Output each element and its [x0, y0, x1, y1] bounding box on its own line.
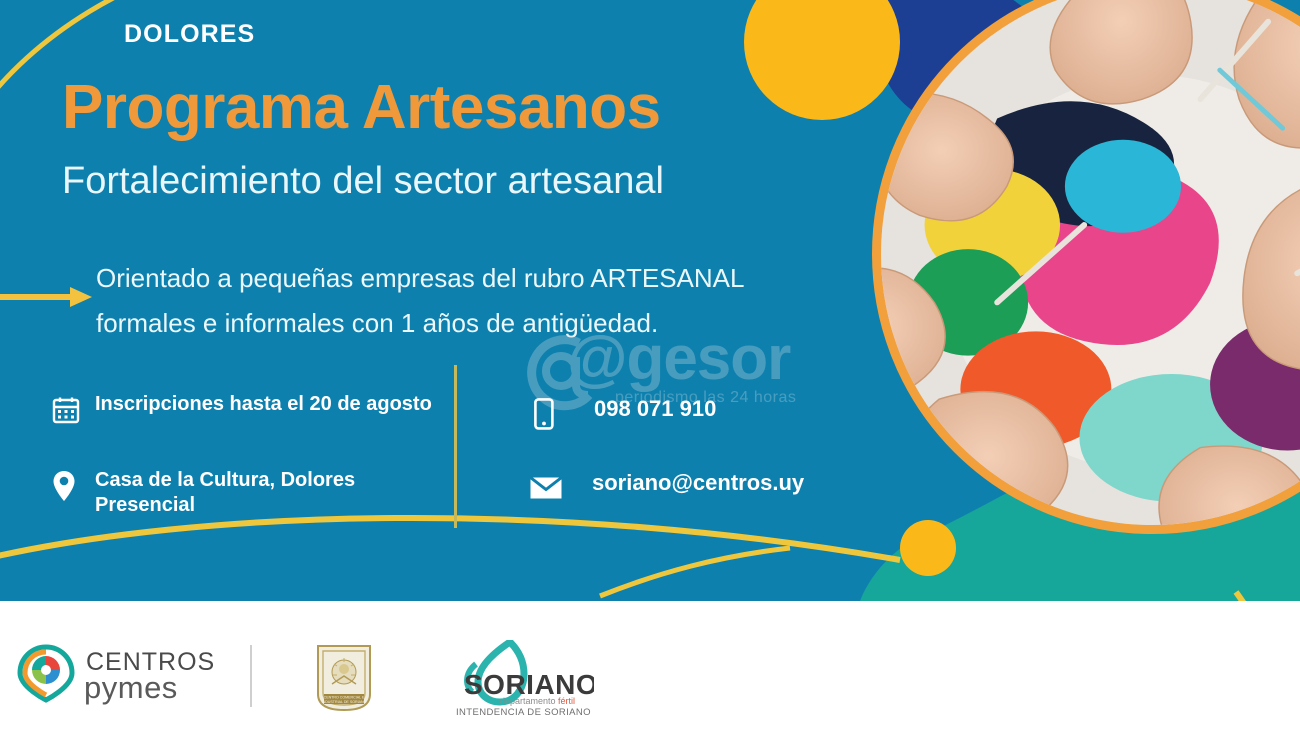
contact-column-divider — [454, 365, 457, 528]
crochet-photo-illustration — [881, 0, 1300, 525]
contact-location-line-1: Casa de la Cultura, Dolores — [95, 469, 355, 491]
contact-item-location: Casa de la Cultura, Dolores Presencial — [52, 468, 355, 518]
seal-line-2: INDUSTRIAL DE SORIANO — [322, 700, 367, 704]
contact-email-text[interactable]: soriano@centros.uy — [564, 470, 804, 495]
contact-item-phone: 098 071 910 — [534, 396, 716, 432]
location-pin-icon — [52, 468, 86, 504]
centros-pymes-pin-icon — [18, 645, 74, 703]
centros-pymes-logo: CENTROS pymes — [14, 643, 214, 705]
crochet-hands-photo — [872, 0, 1300, 534]
contact-phone-text[interactable]: 098 071 910 — [568, 396, 716, 421]
logo-divider — [250, 645, 252, 707]
soriano-intendencia-logo: SORIANO departamento fértil INTENDENCIA … — [452, 640, 594, 718]
contact-item-email: soriano@centros.uy — [530, 470, 804, 506]
poster-panel: DOLORES Programa Artesanos Fortalecimien… — [0, 0, 1300, 601]
mobile-phone-icon — [534, 396, 568, 432]
calendar-icon — [52, 392, 86, 428]
contact-item-date: Inscripciones hasta el 20 de agosto — [52, 392, 432, 428]
centros-pymes-line-2: pymes — [84, 670, 178, 705]
contact-date-text: Inscripciones hasta el 20 de agosto — [86, 392, 432, 417]
centro-comercial-industrial-seal: CENTRO COMERCIAL E INDUSTRIAL DE SORIANO — [308, 642, 380, 714]
contact-location-line-2: Presencial — [95, 494, 195, 516]
flyer-root: DOLORES Programa Artesanos Fortalecimien… — [0, 0, 1300, 732]
soriano-line-2: departamento fértil — [500, 696, 575, 706]
contact-location-text: Casa de la Cultura, Dolores Presencial — [86, 468, 355, 518]
soriano-line-3: INTENDENCIA DE SORIANO — [456, 707, 591, 718]
envelope-icon — [530, 470, 564, 506]
